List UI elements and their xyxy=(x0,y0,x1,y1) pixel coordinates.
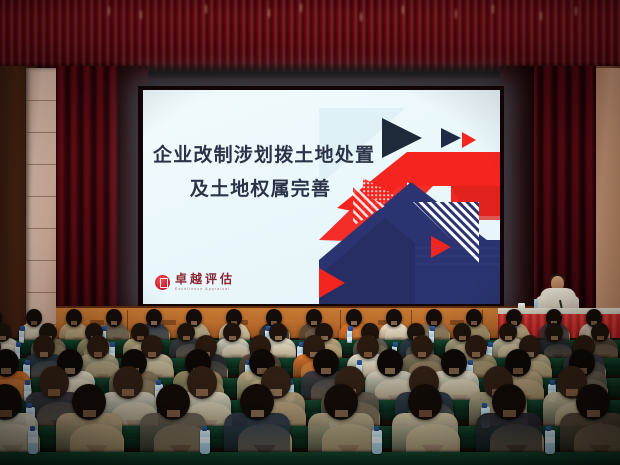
slide-title-block: 企业改制涉划拨土地处置 及土地权属完善 xyxy=(153,140,368,204)
logo-name-en: Excellence Appraisal xyxy=(175,288,235,292)
water-bottle xyxy=(347,330,352,342)
audience-member-neck xyxy=(335,410,348,417)
audience-member-neck xyxy=(471,321,477,325)
audience-member-neck xyxy=(431,321,437,325)
curtain-light-glint xyxy=(268,8,270,18)
audience-member-neck xyxy=(566,389,577,396)
water-bottle xyxy=(545,430,555,454)
audience-member-neck xyxy=(31,321,37,325)
curtain-light-glint xyxy=(540,11,542,21)
audience-member-neck xyxy=(40,352,48,357)
curtain-light-glint xyxy=(108,6,110,16)
audience-member-neck xyxy=(311,321,317,325)
curtain-light-glint xyxy=(575,6,577,16)
audience-member-neck xyxy=(196,389,207,396)
audience-member-neck xyxy=(275,336,282,340)
logo-text-wrap: 卓越评估 Excellence Appraisal xyxy=(175,273,235,291)
audience-member-neck xyxy=(551,336,558,340)
curtain-light-glint xyxy=(205,4,207,14)
audience-member-neck xyxy=(71,321,77,325)
audience-member-neck xyxy=(251,410,264,417)
audience-member-neck xyxy=(122,389,133,396)
audience-member-neck xyxy=(449,368,459,374)
audience-member-neck xyxy=(513,368,523,374)
slide-logo: 卓越评估 Excellence Appraisal xyxy=(155,273,235,291)
logo-name-cn: 卓越评估 xyxy=(175,273,235,285)
curtain-light-glint xyxy=(455,9,457,19)
audience-member-neck xyxy=(364,352,372,357)
curtain-light-glint xyxy=(360,12,362,22)
audience-member-neck xyxy=(1,368,11,374)
audience-member-neck xyxy=(321,368,331,374)
audience-member-neck xyxy=(597,336,604,340)
water-bottle xyxy=(372,430,382,454)
audience-member-neck xyxy=(167,410,180,417)
audience-member-neck xyxy=(587,410,600,417)
audience-member-neck xyxy=(111,321,117,325)
auditorium-photo: 企业改制涉划拨土地处置 及土地权属完善 卓越评估 Excellence Appr… xyxy=(0,0,620,465)
audience-member-neck xyxy=(472,352,480,357)
curtain-light-glint xyxy=(140,10,142,20)
curtain-light-glint xyxy=(300,3,302,13)
audience-member-neck xyxy=(418,352,426,357)
audience-member-neck xyxy=(94,352,102,357)
audience-member-neck xyxy=(505,336,512,340)
slide-title-line-1: 企业改制涉划拨土地处置 xyxy=(153,140,368,170)
audience-member-neck xyxy=(48,389,59,396)
audience-member-neck xyxy=(229,336,236,340)
audience-member-neck xyxy=(0,336,6,340)
audience-member-neck xyxy=(385,368,395,374)
water-bottle xyxy=(19,330,24,342)
audience-member-neck xyxy=(351,321,357,325)
apron-vent xyxy=(162,320,176,325)
audience-member-neck xyxy=(183,336,190,340)
audience-member-neck xyxy=(148,352,156,357)
water-bottle xyxy=(28,430,38,454)
presentation-slide: 企业改制涉划拨土地处置 及土地权属完善 卓越评估 Excellence Appr… xyxy=(143,90,500,304)
audience-desk xyxy=(0,452,620,465)
curtain-light-glint xyxy=(492,4,494,14)
slide-title-line-2: 及土地权属完善 xyxy=(153,174,368,204)
water-bottle xyxy=(200,430,210,454)
audience-member-neck xyxy=(151,321,157,325)
audience-member-neck xyxy=(391,321,397,325)
audience-member-neck xyxy=(0,410,12,417)
company-logo-icon xyxy=(155,275,170,290)
audience-member-neck xyxy=(83,410,96,417)
audience-member-neck xyxy=(459,336,466,340)
audience-member-neck xyxy=(419,410,432,417)
audience-member-neck xyxy=(503,410,516,417)
curtain-light-glint xyxy=(402,5,404,15)
